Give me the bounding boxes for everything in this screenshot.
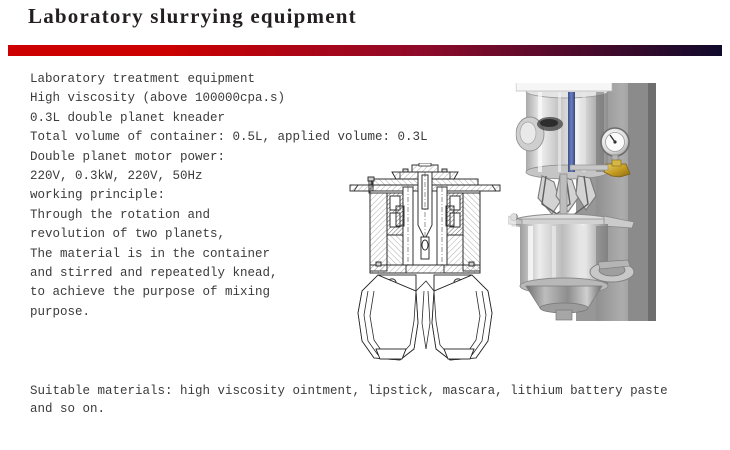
materials-line: and so on. (30, 400, 700, 418)
spec-line: Total volume of container: 0.5L, applied… (30, 128, 430, 147)
materials-line: Suitable materials: high viscosity ointm… (30, 382, 700, 400)
laboratory-mixer-photograph (508, 64, 656, 321)
suitable-materials: Suitable materials: high viscosity ointm… (30, 382, 700, 418)
spec-line: Laboratory treatment equipment (30, 70, 430, 89)
gradient-divider (8, 45, 722, 56)
spec-line: 0.3L double planet kneader (30, 109, 430, 128)
double-planetary-kneader-cad-drawing (340, 163, 510, 363)
spec-line: High viscosity (above 100000cpa.s) (30, 89, 430, 108)
page-title: Laboratory slurrying equipment (28, 4, 357, 29)
